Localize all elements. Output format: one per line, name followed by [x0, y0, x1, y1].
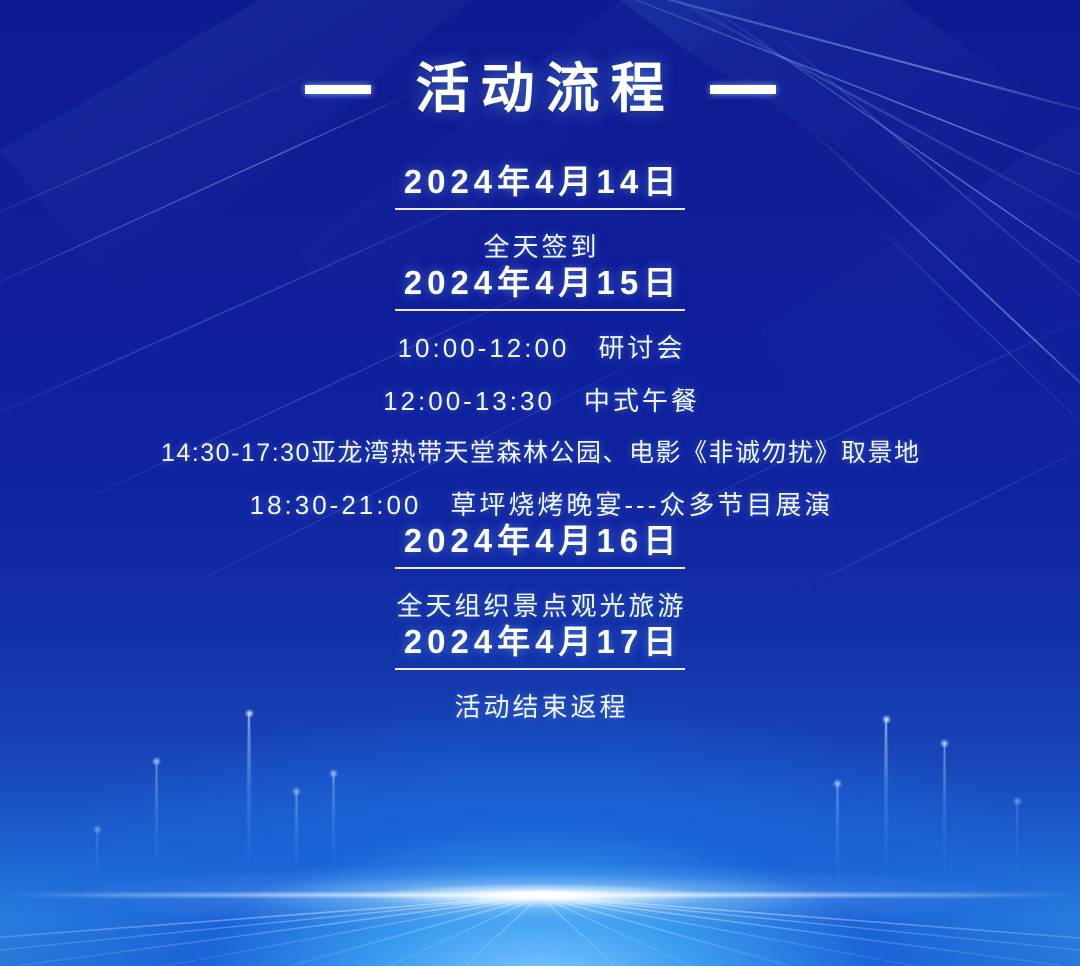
schedule-day-block: 2024年4月17日 活动结束返程: [0, 622, 1080, 723]
light-streak: [247, 712, 251, 892]
schedule-day-heading-row: 2024年4月17日: [0, 622, 1080, 670]
schedule-day-heading-row: 2024年4月16日: [0, 521, 1080, 569]
schedule-day-block: 2024年4月14日 全天签到: [0, 162, 1080, 263]
light-streak: [96, 828, 98, 896]
horizon-glow: [0, 850, 1080, 942]
schedule-item: 18:30-21:00 草坪烧烤晚宴---众多节目展演: [0, 490, 1080, 521]
schedule-item: 全天组织景点观光旅游: [0, 591, 1080, 622]
schedule-date-heading: 2024年4月14日: [395, 162, 685, 210]
poster-content: 活动流程 2024年4月14日 全天签到 2024年4月15日 10:00-12…: [0, 0, 1080, 723]
horizon-core-flare: [390, 884, 690, 906]
schedule-item: 10:00-12:00 研讨会: [0, 333, 1080, 364]
schedule-list: 2024年4月14日 全天签到 2024年4月15日 10:00-12:00 研…: [0, 162, 1080, 723]
schedule-item: 全天签到: [0, 232, 1080, 263]
horizon-line: [0, 893, 1080, 897]
title-dash-right-icon: [710, 85, 776, 94]
event-schedule-poster: 活动流程 2024年4月14日 全天签到 2024年4月15日 10:00-12…: [0, 0, 1080, 966]
schedule-item: 14:30-17:30亚龙湾热带天堂森林公园、电影《非诚勿扰》取景地: [0, 439, 1080, 469]
light-streak: [884, 718, 888, 896]
schedule-day-block: 2024年4月16日 全天组织景点观光旅游: [0, 521, 1080, 622]
schedule-date-heading: 2024年4月15日: [395, 263, 685, 311]
light-streak: [943, 742, 946, 894]
light-streak: [836, 782, 839, 897]
light-streak: [332, 772, 335, 892]
schedule-date-heading: 2024年4月17日: [395, 622, 685, 670]
schedule-day-block: 2024年4月15日 10:00-12:00 研讨会 12:00-13:30 中…: [0, 263, 1080, 521]
schedule-date-heading: 2024年4月16日: [395, 521, 685, 569]
light-streak: [155, 760, 158, 890]
schedule-item: 活动结束返程: [0, 692, 1080, 723]
light-streak: [295, 790, 298, 895]
schedule-day-heading-row: 2024年4月14日: [0, 162, 1080, 210]
schedule-item: 12:00-13:30 中式午餐: [0, 386, 1080, 417]
schedule-day-heading-row: 2024年4月15日: [0, 263, 1080, 311]
light-streak: [1016, 800, 1018, 892]
poster-title-row: 活动流程: [0, 0, 1080, 116]
title-dash-left-icon: [305, 85, 371, 94]
page-title: 活动流程: [405, 62, 676, 116]
